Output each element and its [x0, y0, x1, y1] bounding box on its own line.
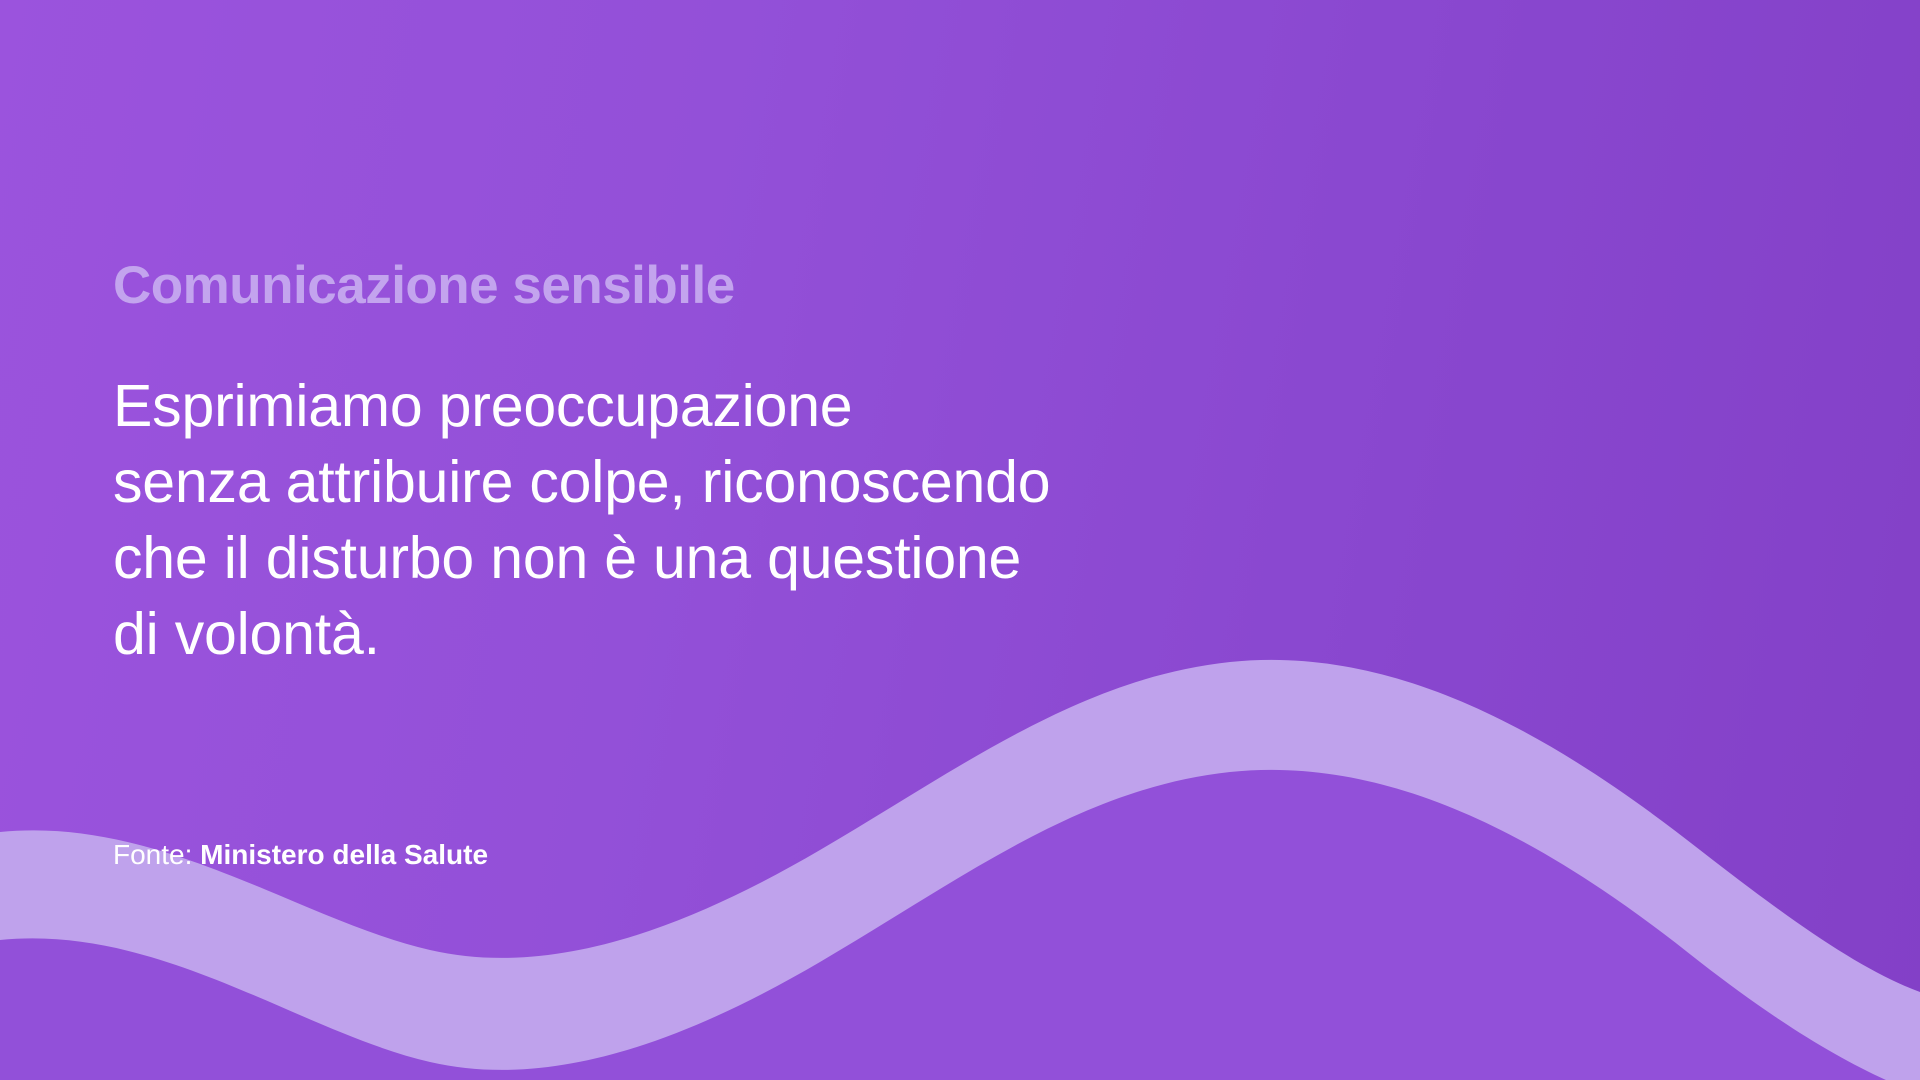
body-line-2: senza attribuire colpe, riconoscendo: [113, 444, 1050, 520]
slide-canvas: Comunicazione sensibile Esprimiamo preoc…: [0, 0, 1920, 1080]
slide-eyebrow: Comunicazione sensibile: [113, 258, 735, 314]
source-name: Ministero della Salute: [200, 839, 488, 870]
wave-band-inner-shape: [0, 770, 1920, 1080]
source-label: Fonte:: [113, 839, 192, 870]
body-line-4: di volontà.: [113, 596, 1050, 672]
body-line-3: che il disturbo non è una questione: [113, 520, 1050, 596]
source-attribution: Fonte: Ministero della Salute: [113, 838, 488, 872]
body-line-1: Esprimiamo preoccupazione: [113, 368, 1050, 444]
slide-body-text: Esprimiamo preoccupazione senza attribui…: [113, 368, 1050, 672]
